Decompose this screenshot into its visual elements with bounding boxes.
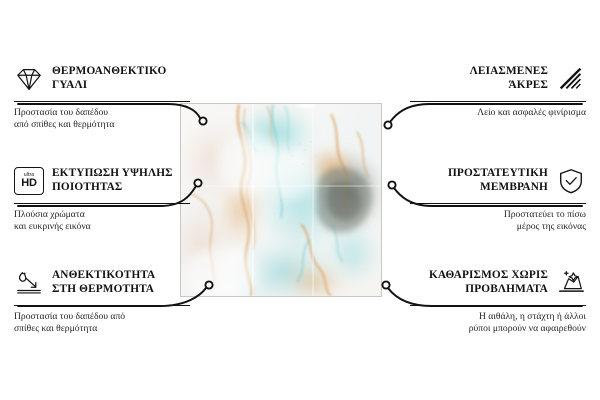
feature-heat-durability: ΑΝΘΕΚΤΙΚΟΤΗΤΑ ΣΤΗ ΘΕΡΜΟΤΗΤΑ Προστασία το… [14, 266, 190, 336]
shield-check-icon [556, 167, 586, 195]
feature-polished-edges: ΛΕΙΑΣΜΕΝΕΣ ΆΚΡΕΣ Λείο και ασφαλές φινίρι… [410, 62, 586, 119]
feature-heat-resistant-glass: ΘΕΡΜΟΑΝΘΕΚΤΙΚΟ ΓΥΑΛΙ Προστασία του δαπέδ… [14, 62, 190, 132]
feature-title: ΕΚΤΥΠΩΣΗ ΥΨΗΛΗΣ ΠΟΙΟΤΗΤΑΣ [52, 167, 173, 194]
feature-description: Λείο και ασφαλές φινίρισμα [410, 107, 586, 119]
feature-title: ΠΡΟΣΤΑΤΕΥΤΙΚΗ ΜΕΜΒΡΑΝΗ [448, 167, 548, 194]
feature-divider [410, 305, 586, 306]
feature-divider [410, 101, 586, 102]
infographic-canvas: ΘΕΡΜΟΑΝΘΕΚΤΙΚΟ ΓΥΑΛΙ Προστασία του δαπέδ… [0, 0, 600, 400]
feature-description: Προστασία του δαπέδου από σπίθες και θερ… [14, 311, 190, 336]
feature-easy-cleaning: ΚΑΘΑΡΙΣΜΟΣ ΧΩΡΙΣ ΠΡΟΒΛΗΜΑΤΑ Η αιθάλη, η … [410, 266, 586, 336]
flame-deflect-icon [14, 269, 44, 297]
feature-divider [14, 101, 190, 102]
feature-description: Η αιθάλη, η στάχτη ή άλλοι ρύποι μπορούν… [410, 311, 586, 336]
feature-high-quality-print: ultra HD ΕΚΤΥΠΩΣΗ ΥΨΗΛΗΣ ΠΟΙΟΤΗΤΑΣ Πλούσ… [14, 164, 190, 234]
feature-header: ΚΑΘΑΡΙΣΜΟΣ ΧΩΡΙΣ ΠΡΟΒΛΗΜΑΤΑ [410, 266, 586, 300]
feature-description: Προστασία του δαπέδου από σπίθες και θερ… [14, 107, 190, 132]
feature-description: Προστατεύει το πίσω μέρος της εικόνας [410, 209, 586, 234]
feature-title: ΘΕΡΜΟΑΝΘΕΚΤΙΚΟ ΓΥΑΛΙ [52, 65, 166, 92]
feature-divider [14, 305, 190, 306]
ultra-hd-icon: ultra HD [14, 167, 44, 195]
marble-artwork-svg [181, 104, 381, 296]
sponge-sparkle-icon [556, 269, 586, 297]
feature-divider [410, 203, 586, 204]
specular-highlight [293, 104, 319, 110]
feature-protective-membrane: ΠΡΟΣΤΑΤΕΥΤΙΚΗ ΜΕΜΒΡΑΝΗ Προστατεύει το πί… [410, 164, 586, 234]
feature-description: Πλούσια χρώματα και ευκρινής εικόνα [14, 209, 190, 234]
feature-title: ΑΝΘΕΚΤΙΚΟΤΗΤΑ ΣΤΗ ΘΕΡΜΟΤΗΤΑ [52, 269, 155, 296]
feature-header: ΘΕΡΜΟΑΝΘΕΚΤΙΚΟ ΓΥΑΛΙ [14, 62, 190, 96]
feature-title: ΛΕΙΑΣΜΕΝΕΣ ΆΚΡΕΣ [470, 65, 548, 92]
ultra-hd-large-label: HD [21, 178, 37, 189]
product-image [181, 104, 400, 297]
feature-header: ΑΝΘΕΚΤΙΚΟΤΗΤΑ ΣΤΗ ΘΕΡΜΟΤΗΤΑ [14, 266, 190, 300]
feature-header: ΛΕΙΑΣΜΕΝΕΣ ΆΚΡΕΣ [410, 62, 586, 96]
feature-header: ultra HD ΕΚΤΥΠΩΣΗ ΥΨΗΛΗΣ ΠΟΙΟΤΗΤΑΣ [14, 164, 190, 198]
hatched-edge-icon [556, 65, 586, 93]
feature-header: ΠΡΟΣΤΑΤΕΥΤΙΚΗ ΜΕΜΒΡΑΝΗ [410, 164, 586, 198]
diamond-icon [14, 65, 44, 93]
feature-title: ΚΑΘΑΡΙΣΜΟΣ ΧΩΡΙΣ ΠΡΟΒΛΗΜΑΤΑ [429, 269, 548, 296]
glass-panel-artwork [181, 104, 381, 296]
feature-divider [14, 203, 190, 204]
